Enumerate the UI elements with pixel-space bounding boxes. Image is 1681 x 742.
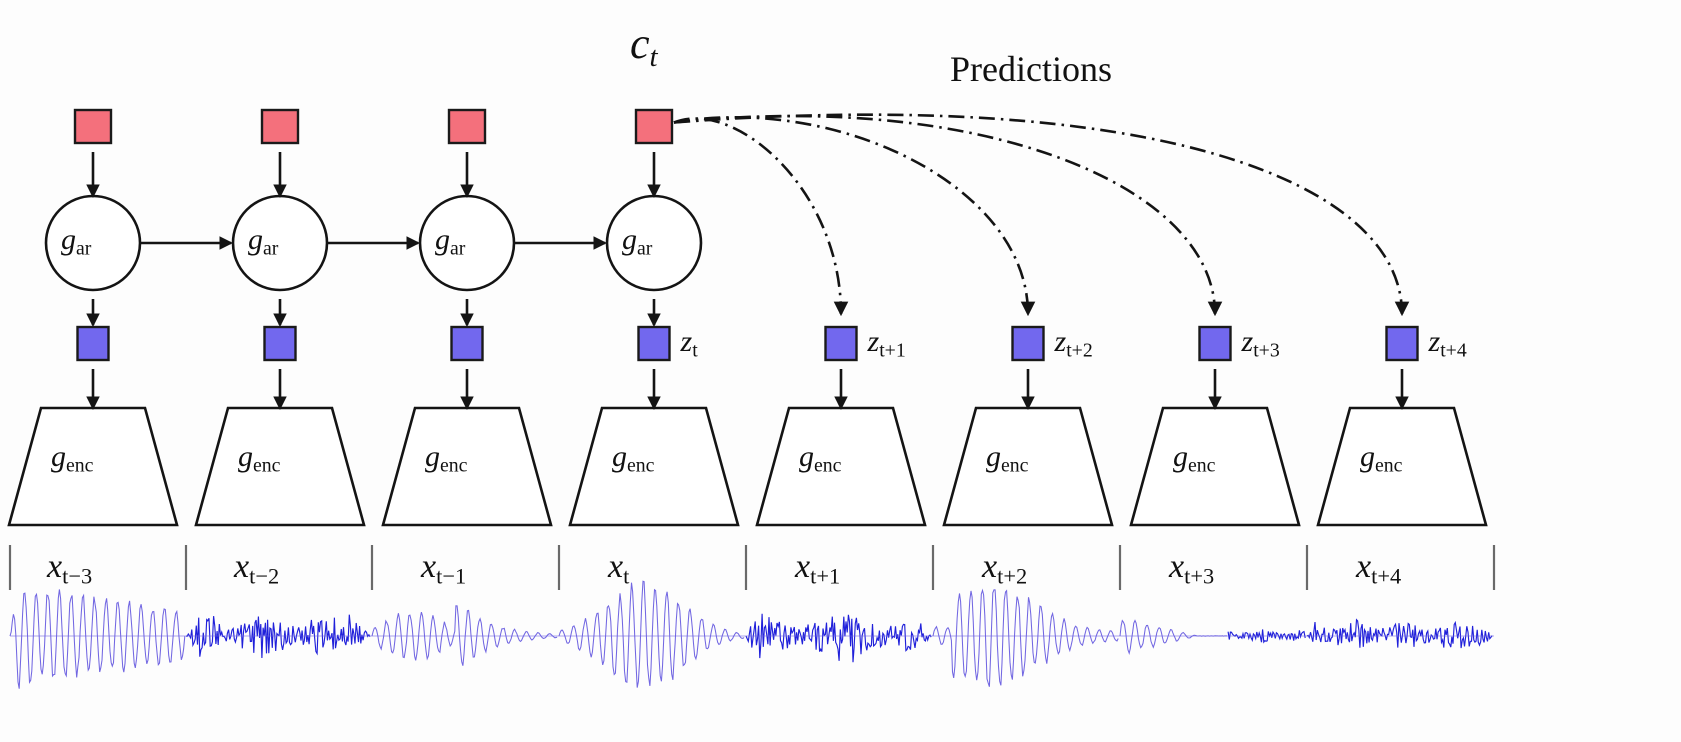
z-label-main: z (1429, 325, 1441, 358)
encoder-label-sub: enc (1375, 455, 1402, 477)
encoder-label: genc (51, 440, 93, 478)
ar-label-sub: ar (263, 238, 278, 260)
ar-label-sub: ar (637, 238, 652, 260)
x-label-main: x (421, 548, 436, 585)
latent-variable-label: zt+1 (868, 325, 906, 363)
input-segment-label: xt+1 (795, 548, 840, 589)
context-square (262, 110, 298, 143)
encoder-label-main: g (425, 440, 440, 473)
context-square (636, 110, 672, 143)
x-label-main: x (608, 548, 623, 585)
z-label-main: z (1242, 325, 1254, 358)
encoder-label: genc (425, 440, 467, 478)
latent-square (639, 327, 670, 360)
encoder-label-main: g (238, 440, 253, 473)
encoder-label: genc (1173, 440, 1215, 478)
ar-label-main: g (61, 223, 76, 256)
x-label-sub: t (623, 563, 629, 588)
context-square (449, 110, 485, 143)
input-segment-label: xt−1 (421, 548, 466, 589)
x-label-main: x (1169, 548, 1184, 585)
x-label-sub: t−2 (249, 563, 279, 588)
prediction-arrows-group (674, 115, 1402, 314)
latent-variable-label: zt+3 (1242, 325, 1280, 363)
ct-label-main: c (630, 19, 650, 68)
z-label-sub: t+4 (1440, 340, 1467, 362)
latent-variable-label: zt (681, 325, 698, 363)
latent-square (1200, 327, 1231, 360)
autoregressive-cell-label: gar (435, 223, 465, 261)
waveform-segment-light (933, 590, 1118, 687)
predictions-label: Predictions (950, 48, 1112, 90)
latent-variable-label: zt+4 (1429, 325, 1467, 363)
segment-separators-group (10, 545, 1494, 590)
latent-square (265, 327, 296, 360)
z-label-main: z (681, 325, 693, 358)
ar-label-main: g (435, 223, 450, 256)
x-label-main: x (47, 548, 62, 585)
ar-label-main: g (622, 223, 637, 256)
encoder-label: genc (238, 440, 280, 478)
encoder-label-sub: enc (253, 455, 280, 477)
x-label-sub: t−1 (436, 563, 466, 588)
encoder-label-main: g (1173, 440, 1188, 473)
input-segment-label: xt+4 (1356, 548, 1401, 589)
input-segment-label: xt (608, 548, 629, 589)
x-label-sub: t−3 (62, 563, 92, 588)
z-label-sub: t (692, 340, 698, 362)
x-label-sub: t+2 (997, 563, 1027, 588)
latent-square (1013, 327, 1044, 360)
ar-label-main: g (248, 223, 263, 256)
x-label-main: x (234, 548, 249, 585)
waveform-segment-light (10, 589, 185, 688)
waveform-segment-light (1120, 621, 1227, 654)
encoder-label-main: g (986, 440, 1001, 473)
context-square (75, 110, 111, 143)
prediction-arrow (674, 115, 1402, 314)
z-label-sub: t+1 (879, 340, 906, 362)
ct-label-sub: t (650, 41, 658, 73)
input-segment-label: xt+2 (982, 548, 1027, 589)
latent-square (452, 327, 483, 360)
prediction-arrow (674, 117, 1028, 314)
cpc-architecture-figure: gencgarxt−3gencgarxt−2gencgarxt−1gencztg… (0, 0, 1681, 742)
z-label-sub: t+3 (1253, 340, 1280, 362)
encoder-label-main: g (51, 440, 66, 473)
diagram-canvas (0, 0, 1681, 742)
waveform-segment-dark (746, 614, 931, 662)
ar-label-sub: ar (450, 238, 465, 260)
encoder-label-main: g (799, 440, 814, 473)
encoder-label: genc (986, 440, 1028, 478)
autoregressive-cell-label: gar (622, 223, 652, 261)
autoregressive-cell-label: gar (248, 223, 278, 261)
x-label-main: x (1356, 548, 1371, 585)
latent-square (78, 327, 109, 360)
encoder-label-sub: enc (1188, 455, 1215, 477)
z-label-sub: t+2 (1066, 340, 1093, 362)
encoder-label-main: g (612, 440, 627, 473)
encoder-label: genc (1360, 440, 1402, 478)
context-vector-label: ct (630, 18, 658, 74)
latent-square (826, 327, 857, 360)
x-label-sub: t+4 (1371, 563, 1401, 588)
ar-label-sub: ar (76, 238, 91, 260)
encoder-label-sub: enc (440, 455, 467, 477)
encoder-label: genc (799, 440, 841, 478)
audio-waveform (10, 581, 1494, 689)
prediction-arrow (674, 118, 841, 314)
input-segment-label: xt−3 (47, 548, 92, 589)
encoder-label-main: g (1360, 440, 1375, 473)
x-label-main: x (795, 548, 810, 585)
z-label-main: z (1055, 325, 1067, 358)
latent-square (1387, 327, 1418, 360)
encoder-label-sub: enc (627, 455, 654, 477)
input-segment-label: xt−2 (234, 548, 279, 589)
x-label-main: x (982, 548, 997, 585)
prediction-arrow (674, 116, 1215, 314)
encoder-label-sub: enc (66, 455, 93, 477)
x-label-sub: t+1 (810, 563, 840, 588)
encoder-label-sub: enc (814, 455, 841, 477)
autoregressive-cell-label: gar (61, 223, 91, 261)
waveform-segment-light (559, 581, 744, 687)
column-group (9, 110, 1486, 525)
waveform-segment-dark (1307, 620, 1492, 648)
x-label-sub: t+3 (1184, 563, 1214, 588)
encoder-label: genc (612, 440, 654, 478)
latent-variable-label: zt+2 (1055, 325, 1093, 363)
input-segment-label: xt+3 (1169, 548, 1214, 589)
encoder-label-sub: enc (1001, 455, 1028, 477)
z-label-main: z (868, 325, 880, 358)
